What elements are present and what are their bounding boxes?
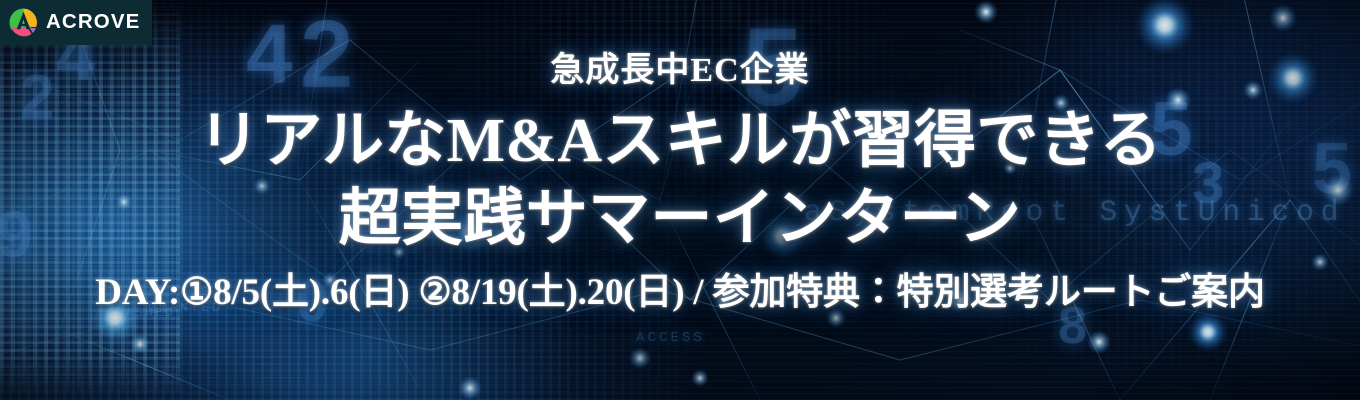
dates-and-benefit-text: DAY:①8/5(土).6(日) ②8/19(土).20(日) / 参加特典：特… <box>95 274 1265 311</box>
headline-line-2: 超実践サマーインターン <box>339 188 1021 250</box>
promo-banner: 4 4 2 2 9 0 5 5 5 3 8 aSystemRoot SystUn… <box>0 0 1360 400</box>
acrove-wordmark: ACROVE <box>46 12 140 34</box>
acrove-logo-mark <box>9 8 38 37</box>
eyebrow-text: 急成長中EC企業 <box>550 54 809 88</box>
banner-copy: 急成長中EC企業 リアルなM&Aスキルが習得できる 超実践サマーインターン DA… <box>0 0 1360 400</box>
headline-line-1: リアルなM&Aスキルが習得できる <box>198 110 1162 172</box>
acrove-logo-badge[interactable]: ACROVE <box>0 0 152 45</box>
